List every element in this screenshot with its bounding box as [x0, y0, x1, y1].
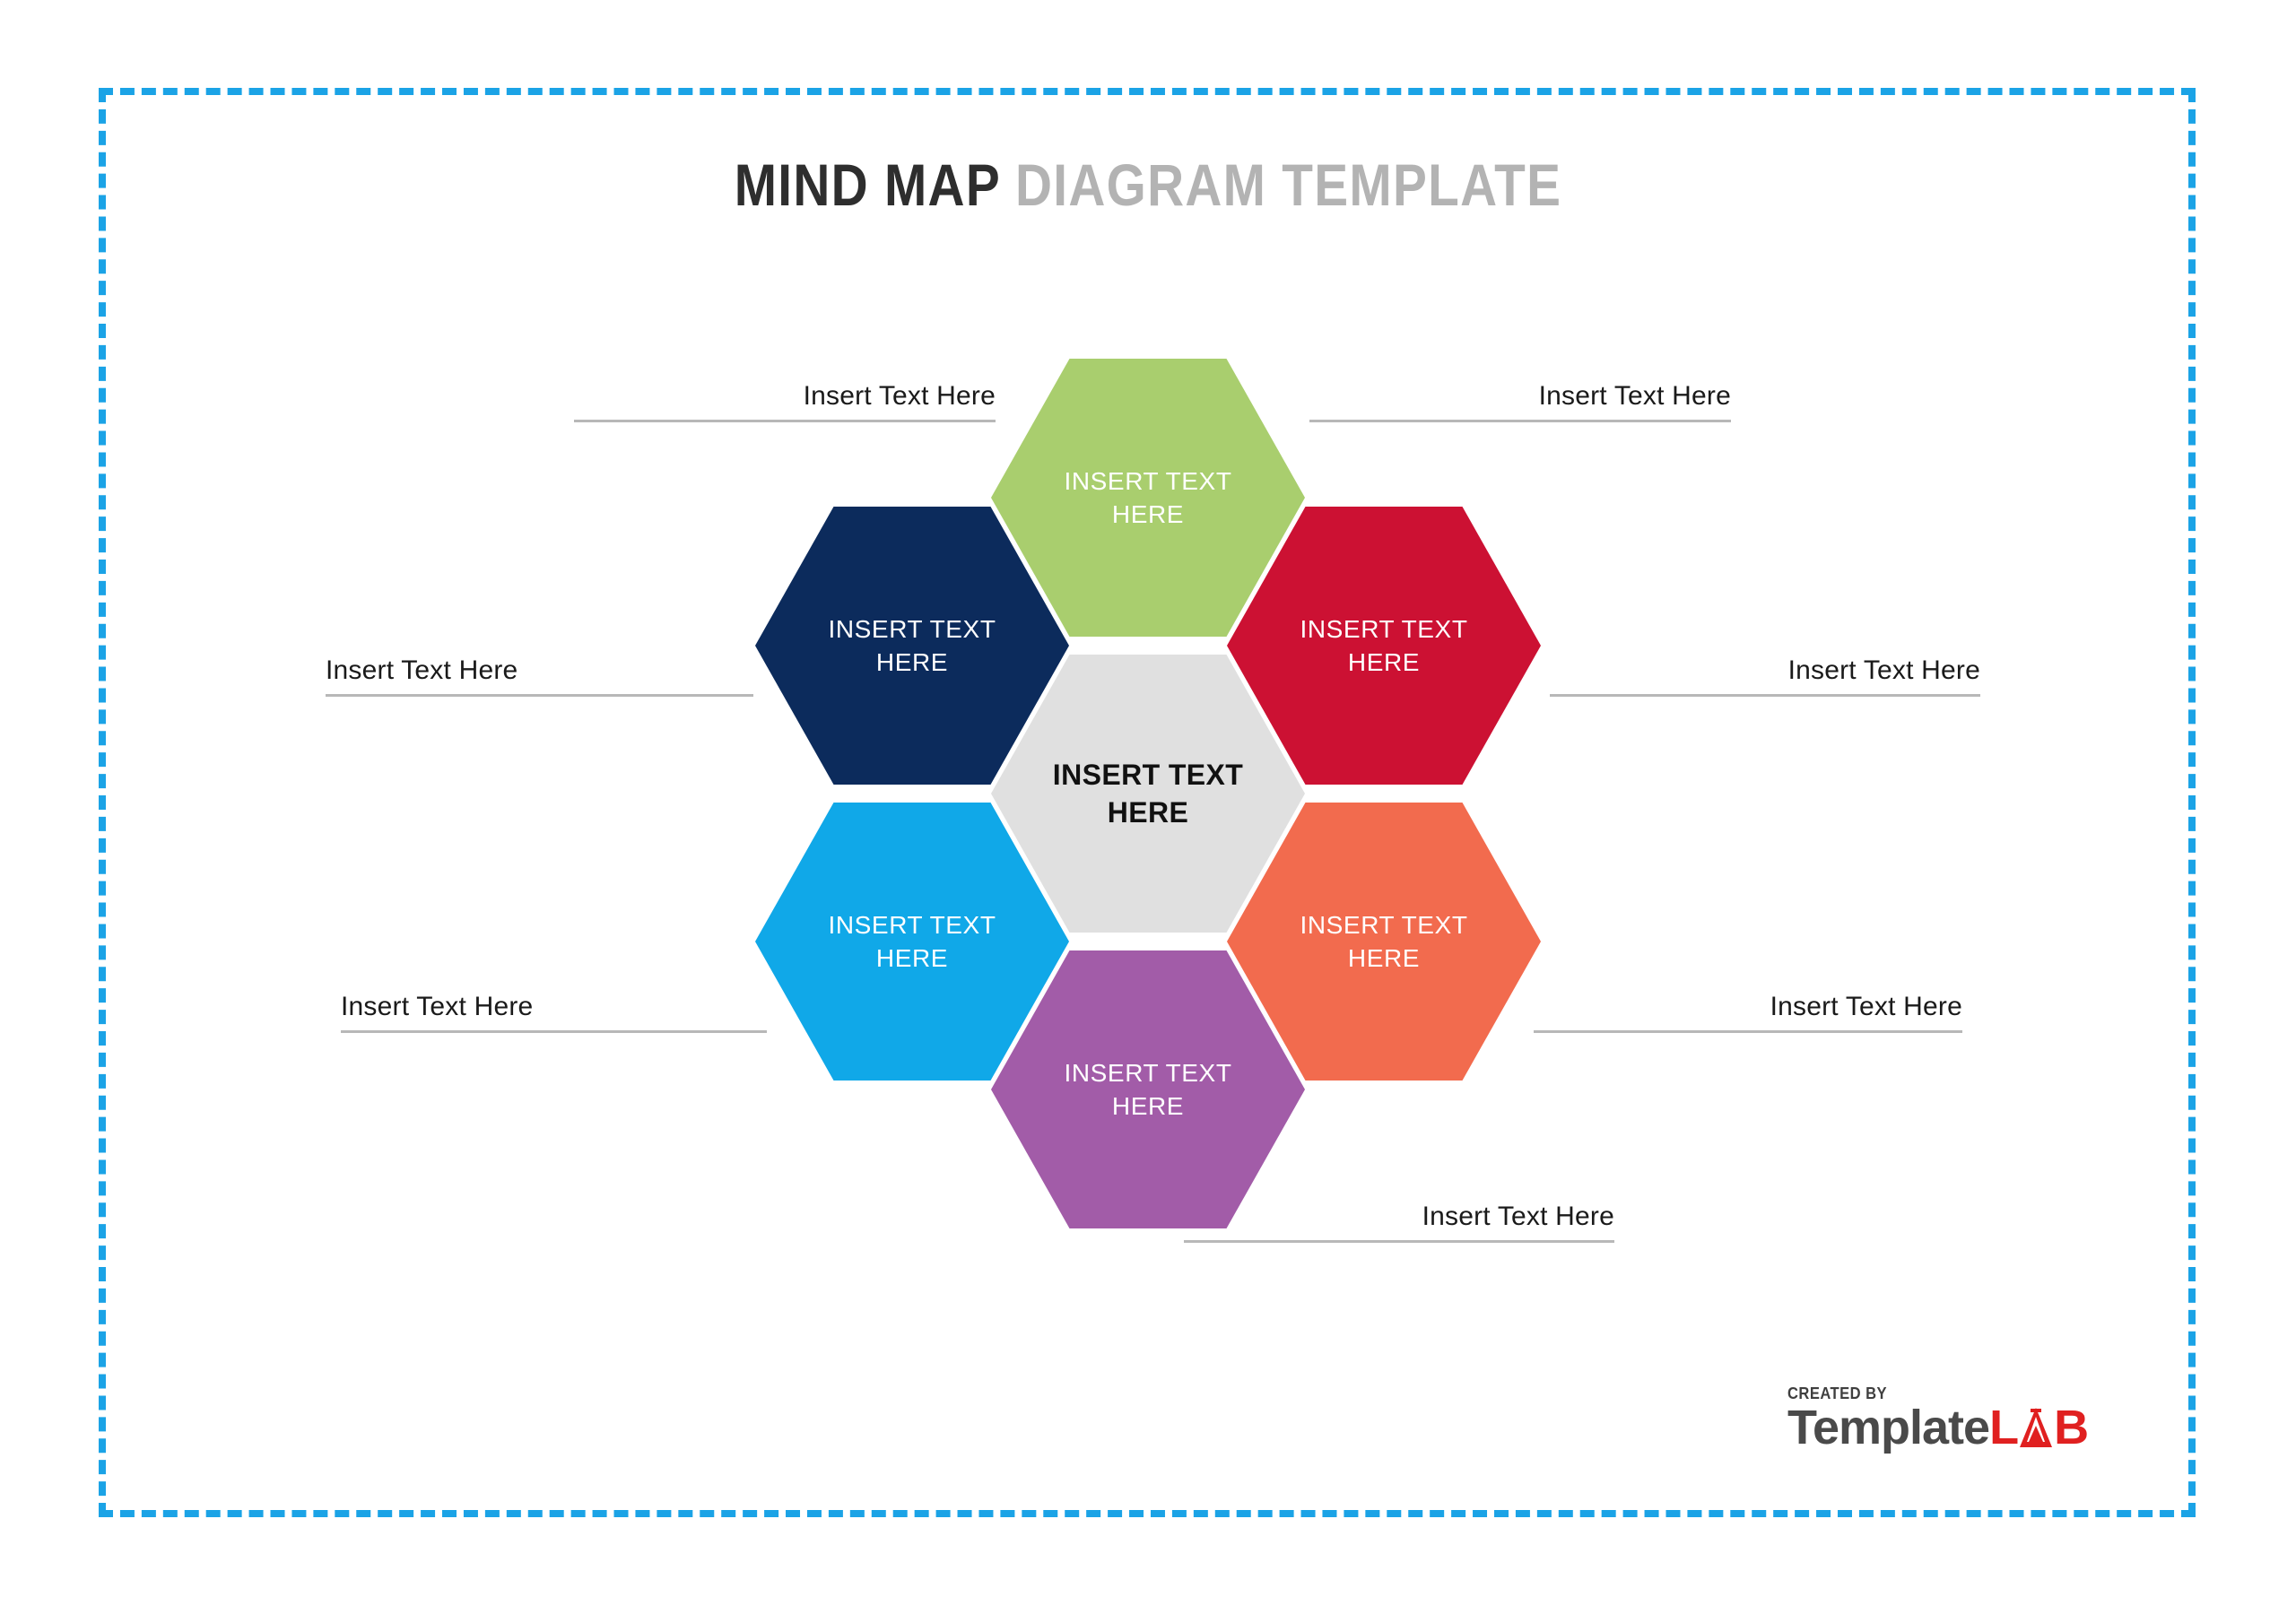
- connector-low-right-rule: [1534, 1030, 1962, 1033]
- hexagon-bottom-label: INSERT TEXT HERE: [991, 1056, 1305, 1123]
- connector-mid-left-rule: [326, 694, 753, 697]
- connector-low-right[interactable]: Insert Text Here: [1534, 992, 1962, 1033]
- logo-word-b: B: [2054, 1401, 2088, 1454]
- connector-mid-right-label: Insert Text Here: [1550, 655, 1980, 694]
- connector-top-left-rule: [574, 420, 996, 422]
- hexagon-top-right-label: INSERT TEXT HERE: [1227, 612, 1541, 679]
- connector-bottom[interactable]: Insert Text Here: [1184, 1202, 1614, 1243]
- hexagon-bottom-left-label: INSERT TEXT HERE: [755, 908, 1069, 975]
- hexagon-top-label: INSERT TEXT HERE: [991, 464, 1305, 531]
- logo-wordmark: TemplateLB: [1787, 1403, 2146, 1452]
- connector-top-right[interactable]: Insert Text Here: [1309, 381, 1731, 422]
- connector-low-right-label: Insert Text Here: [1534, 992, 1962, 1030]
- page-title: MIND MAP DIAGRAM TEMPLATE: [161, 151, 2135, 219]
- connector-mid-left[interactable]: Insert Text Here: [326, 655, 753, 697]
- logo-word-template: Template: [1787, 1401, 1989, 1454]
- connector-top-left-label: Insert Text Here: [574, 381, 996, 420]
- logo-word-l: L: [1989, 1401, 2018, 1454]
- mind-map-hexagon-cluster: INSERT TEXT HERE INSERT TEXT HERE INSERT…: [735, 359, 1561, 1228]
- connector-top-left[interactable]: Insert Text Here: [574, 381, 996, 422]
- hexagon-bottom-right-label: INSERT TEXT HERE: [1227, 908, 1541, 975]
- connector-low-left-label: Insert Text Here: [341, 992, 767, 1030]
- connector-bottom-label: Insert Text Here: [1184, 1202, 1614, 1240]
- hexagon-top-left-label: INSERT TEXT HERE: [755, 612, 1069, 679]
- page-title-primary: MIND MAP: [735, 152, 1000, 218]
- flask-icon: [2018, 1406, 2054, 1449]
- page-title-secondary: DIAGRAM TEMPLATE: [1015, 152, 1561, 218]
- connector-low-left[interactable]: Insert Text Here: [341, 992, 767, 1033]
- connector-top-right-rule: [1309, 420, 1731, 422]
- connector-mid-right[interactable]: Insert Text Here: [1550, 655, 1980, 697]
- connector-bottom-rule: [1184, 1240, 1614, 1243]
- logo-created-by-text: CREATED BY: [1787, 1385, 2118, 1402]
- connector-top-right-label: Insert Text Here: [1309, 381, 1731, 420]
- templatelab-logo: CREATED BY TemplateLB: [1787, 1385, 2146, 1466]
- connector-low-left-rule: [341, 1030, 767, 1033]
- connector-mid-right-rule: [1550, 694, 1980, 697]
- hexagon-center-label: INSERT TEXT HERE: [991, 756, 1305, 831]
- connector-mid-left-label: Insert Text Here: [326, 655, 753, 694]
